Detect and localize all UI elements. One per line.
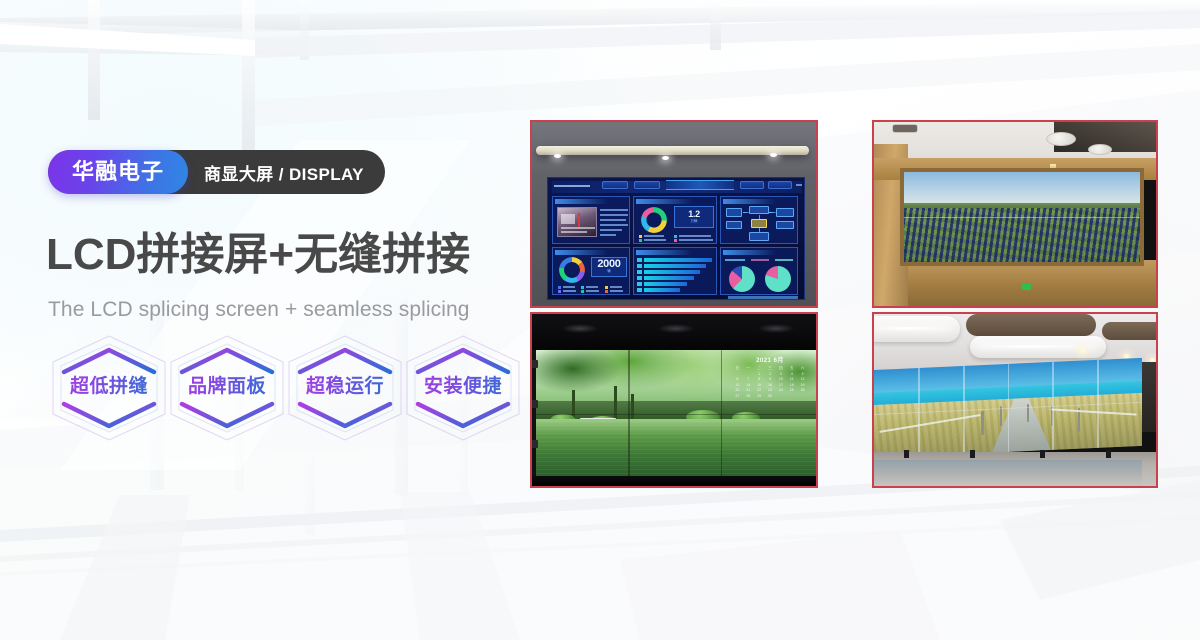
product-photo-park-lake-video-wall: 2021 6月 日 一 二 三 四 五 六 123456789101112131… — [530, 312, 818, 488]
calendar-overlay: 2021 6月 日 一 二 三 四 五 六 123456789101112131… — [732, 357, 808, 417]
feature-badge-label: 安装便捷 — [402, 372, 524, 402]
calendar-day-grid: 1234567891011121314151617181920212223242… — [732, 372, 808, 400]
dashboard-kpi-unit: 辆 — [607, 269, 610, 274]
product-photo-beach-boardwalk-video-wall — [872, 312, 1158, 488]
dashboard-video-wall: 1.2 万辆 — [547, 177, 805, 300]
product-photo-control-room-dashboard: 1.2 万辆 — [530, 120, 818, 308]
brand-category: 商显大屏 / DISPLAY — [204, 160, 364, 185]
brand-name-chip: 华融电子 — [48, 150, 188, 194]
solar-farm-video-wall — [900, 168, 1144, 266]
calendar-day: 29 — [754, 394, 765, 400]
park-lake-video-wall: 2021 6月 日 一 二 三 四 五 六 123456789101112131… — [536, 350, 816, 478]
calendar-day: 27 — [732, 394, 743, 400]
feature-badge-2: 品牌面板 — [166, 332, 288, 444]
dashboard-kpi-value: 1.2 — [688, 210, 700, 219]
subheadline: The LCD splicing screen + seamless splic… — [48, 298, 470, 322]
calendar-day — [786, 394, 797, 400]
dashboard-kpi-unit: 万辆 — [691, 219, 698, 224]
calendar-day: 28 — [743, 394, 754, 400]
feature-badge-4: 安装便捷 — [402, 332, 524, 444]
brand-pill: 华融电子 商显大屏 / DISPLAY — [48, 150, 364, 194]
feature-badge-1: 超低拼缝 — [48, 332, 170, 444]
feature-badge-label: 超稳运行 — [284, 372, 406, 402]
brand-name: 华融电子 — [72, 161, 164, 183]
calendar-day: 30 — [765, 394, 776, 400]
feature-badge-label: 品牌面板 — [166, 372, 288, 402]
calendar-title: 2021 6月 — [732, 357, 808, 366]
feature-badge-row: 超低拼缝 品牌面板 — [48, 332, 518, 444]
product-photo-solar-farm-video-wall — [872, 120, 1158, 308]
brand-category-chip: 商显大屏 / DISPLAY — [188, 150, 364, 194]
beach-boardwalk-video-wall — [874, 358, 1142, 458]
headline: LCD拼接屏+无缝拼接 — [46, 232, 470, 279]
feature-badge-label: 超低拼缝 — [48, 372, 170, 402]
calendar-day — [775, 394, 786, 400]
feature-badge-3: 超稳运行 — [284, 332, 406, 444]
dashboard-kpi-value: 2000 — [597, 260, 620, 269]
banner-left-content: 华融电子 商显大屏 / DISPLAY LCD拼接屏+无缝拼接 The LCD … — [0, 0, 520, 640]
calendar-day — [797, 394, 808, 400]
